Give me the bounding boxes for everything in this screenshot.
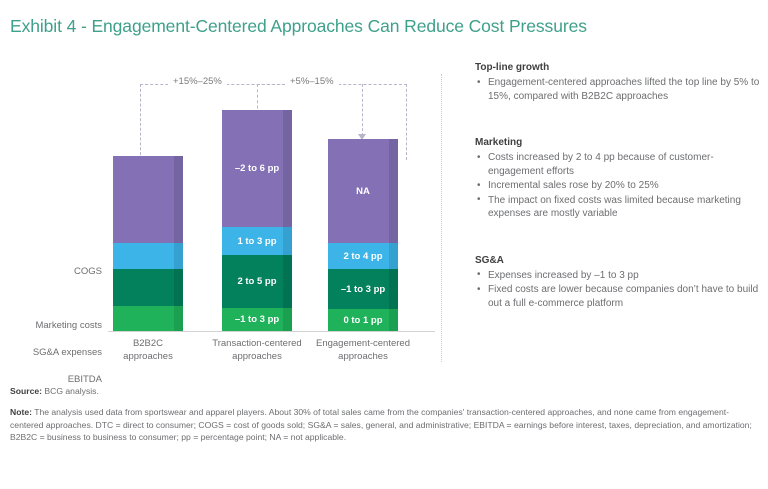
note-label: Note: [10, 407, 32, 417]
note-bullet: Costs increased by 2 to 4 pp because of … [475, 151, 760, 178]
note-heading: Marketing [475, 137, 760, 148]
row-label-marketing-costs: Marketing costs [35, 320, 102, 331]
bar-segment-sga [113, 269, 183, 306]
bracket-label-2: +5%–15% [285, 76, 339, 87]
row-label-ebitda: EBITDA [68, 374, 102, 385]
note-heading: SG&A [475, 255, 760, 266]
source-label: Source: [10, 386, 42, 396]
source-text: BCG analysis. [42, 386, 99, 396]
axis-baseline [108, 331, 435, 332]
note-bullet-list: Expenses increased by –1 to 3 pp Fixed c… [475, 269, 760, 311]
arrow-stem-2 [362, 84, 363, 136]
note-bullet-list: Costs increased by 2 to 4 pp because of … [475, 151, 760, 221]
exhibit-body: COGS Marketing costs SG&A expenses EBITD… [0, 62, 768, 377]
bar-segment-marketing: 1 to 3 pp [222, 227, 292, 255]
bar-segment-cogs [113, 156, 183, 243]
page-title: Exhibit 4 - Engagement-Centered Approach… [10, 16, 587, 37]
row-label-cogs: COGS [74, 266, 102, 277]
note-block-top-line-growth: Top-line growth Engagement-centered appr… [475, 62, 760, 103]
bar-segment-marketing [113, 243, 183, 269]
insights-panel: Top-line growth Engagement-centered appr… [475, 62, 760, 326]
panel-divider [441, 74, 442, 362]
stacked-bar-chart: COGS Marketing costs SG&A expenses EBITD… [0, 62, 441, 377]
note-bullet: Fixed costs are lower because companies … [475, 283, 760, 310]
bar-segment-cogs: NA [328, 139, 398, 243]
bar-segment-ebitda: –1 to 3 pp [222, 308, 292, 331]
bar-segment-sga: 2 to 5 pp [222, 255, 292, 308]
bar-b2b2c[interactable] [113, 156, 183, 331]
note-bullet-list: Engagement-centered approaches lifted th… [475, 76, 760, 103]
note-heading: Top-line growth [475, 62, 760, 73]
bar-segment-sga: –1 to 3 pp [328, 269, 398, 309]
note-bullet: Engagement-centered approaches lifted th… [475, 76, 760, 103]
note-block-sga: SG&A Expenses increased by –1 to 3 pp Fi… [475, 255, 760, 311]
bar-segment-ebitda: 0 to 1 pp [328, 309, 398, 331]
plot-area: +15%–25% +5%–15% [102, 62, 441, 332]
note-line: Note: The analysis used data from sports… [10, 406, 758, 443]
note-bullet: The impact on fixed costs was limited be… [475, 194, 760, 221]
footnotes: Source: BCG analysis. Note: The analysis… [10, 385, 758, 452]
bracket-label-1: +15%–25% [168, 76, 227, 87]
bar-segment-cogs: –2 to 6 pp [222, 110, 292, 227]
bar-transaction-centered[interactable]: –2 to 6 pp 1 to 3 pp 2 to 5 pp –1 to 3 p… [222, 110, 292, 331]
bar-engagement-centered[interactable]: NA 2 to 4 pp –1 to 3 pp 0 to 1 pp [328, 139, 398, 331]
note-block-marketing: Marketing Costs increased by 2 to 4 pp b… [475, 137, 760, 221]
bar-segment-marketing: 2 to 4 pp [328, 243, 398, 269]
bar-segment-ebitda [113, 306, 183, 331]
category-label-engagement-centered: Engagement-centeredapproaches [305, 338, 421, 363]
category-label-transaction-centered: Transaction-centeredapproaches [199, 338, 315, 363]
note-bullet: Incremental sales rose by 20% to 25% [475, 179, 760, 193]
note-text: The analysis used data from sportswear a… [10, 407, 752, 442]
bracket-tick-left-1 [140, 84, 141, 160]
bracket-tick-right-2 [406, 84, 407, 160]
note-bullet: Expenses increased by –1 to 3 pp [475, 269, 760, 283]
source-line: Source: BCG analysis. [10, 385, 758, 397]
category-label-b2b2c: B2B2Capproaches [90, 338, 206, 363]
